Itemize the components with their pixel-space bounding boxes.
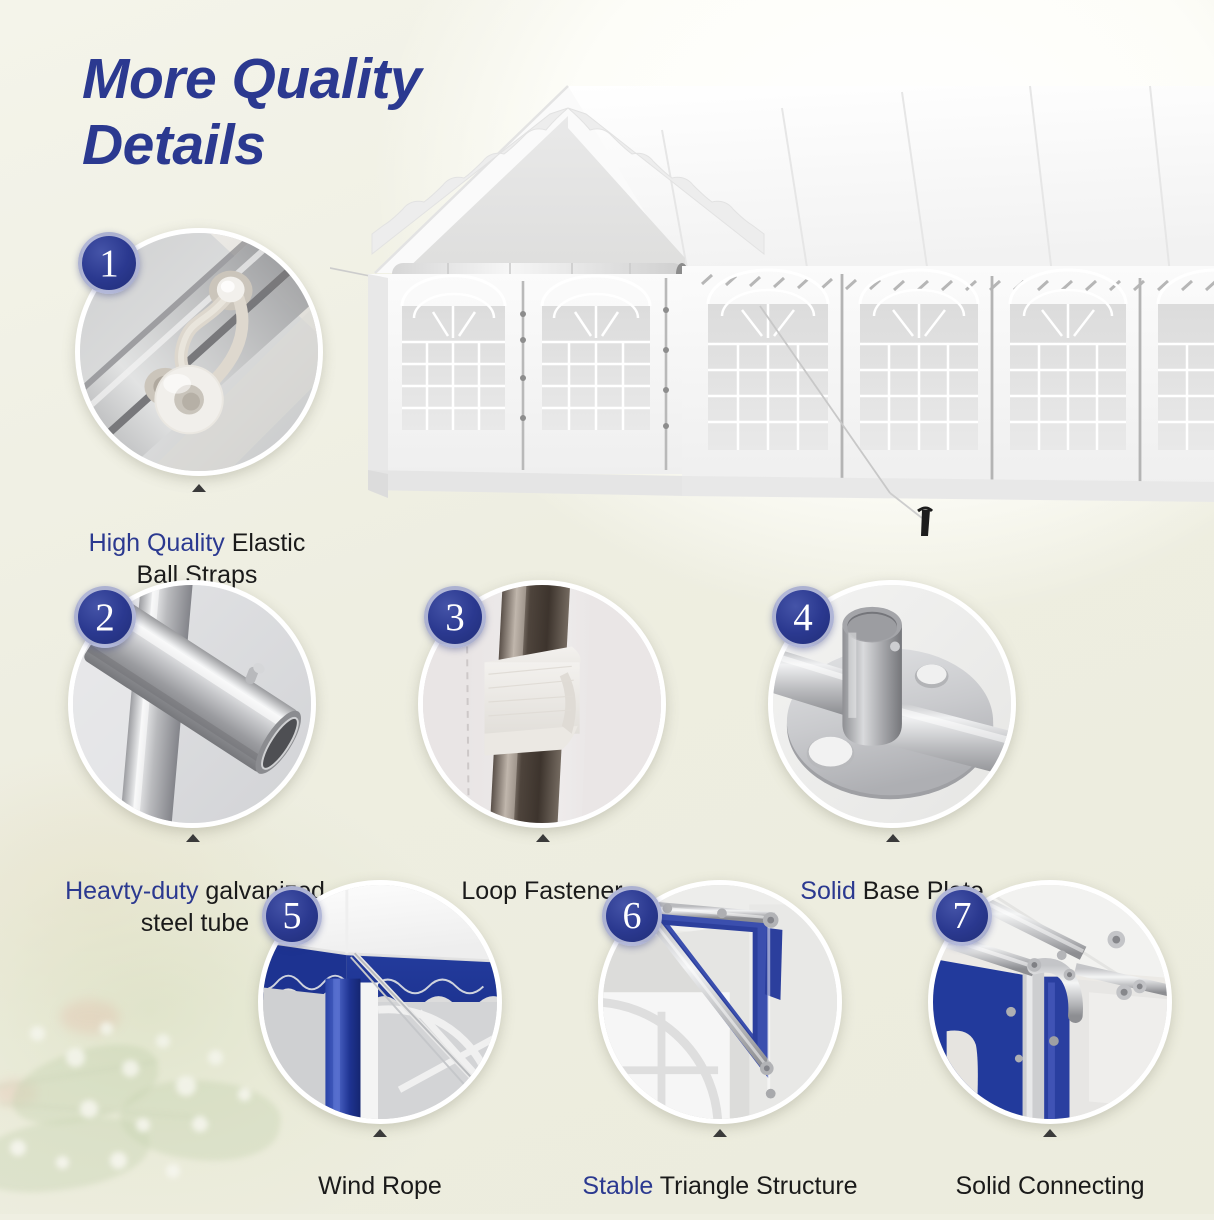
- detail-caption-7: Solid Connecting: [900, 1138, 1200, 1202]
- caret-icon-5: [373, 1129, 387, 1137]
- detail-badge-2-number: 2: [95, 598, 115, 637]
- detail-caption-1: High Quality Elastic Ball Straps: [42, 495, 352, 591]
- detail-badge-3: 3: [424, 586, 486, 648]
- detail-badge-6: 6: [602, 886, 662, 946]
- detail-caption-1-highlight: High Quality: [89, 529, 225, 557]
- detail-badge-6-number: 6: [623, 897, 642, 935]
- caret-icon-6: [713, 1129, 727, 1137]
- detail-badge-1-number: 1: [99, 244, 119, 283]
- detail-caption-5-rest: Wind Rope: [318, 1172, 442, 1200]
- detail-badge-4-number: 4: [793, 598, 813, 637]
- caret-icon-2: [186, 834, 200, 842]
- detail-badge-3-number: 3: [445, 598, 465, 637]
- detail-caption-6-highlight: Stable: [582, 1172, 653, 1200]
- detail-badge-1: 1: [78, 232, 140, 294]
- caret-icon-4: [886, 834, 900, 842]
- caret-icon-7: [1043, 1129, 1057, 1137]
- detail-badge-7: 7: [932, 886, 992, 946]
- detail-caption-2-highlight: Heavty-duty: [65, 877, 198, 905]
- page-title-line1: More Quality: [82, 46, 482, 112]
- detail-badge-5: 5: [262, 886, 322, 946]
- page-title: More Quality Details: [82, 46, 482, 178]
- detail-badge-2: 2: [74, 586, 136, 648]
- detail-caption-7-rest: Solid Connecting: [955, 1172, 1144, 1200]
- detail-caption-4-highlight: Solid: [800, 877, 856, 905]
- page-title-line2: Details: [82, 112, 482, 178]
- detail-caption-5: Wind Rope: [230, 1138, 530, 1202]
- detail-badge-7-number: 7: [953, 897, 972, 935]
- caret-icon-3: [536, 834, 550, 842]
- detail-badge-5-number: 5: [283, 897, 302, 935]
- caret-icon-1: [192, 484, 206, 492]
- detail-badge-4: 4: [772, 586, 834, 648]
- detail-caption-6: Stable Triangle Structure: [570, 1138, 870, 1202]
- detail-caption-6-rest: Triangle Structure: [653, 1172, 857, 1200]
- detail-caption-3-rest: Loop Fastener: [461, 877, 622, 905]
- infographic-page: More Quality Details: [0, 0, 1214, 1214]
